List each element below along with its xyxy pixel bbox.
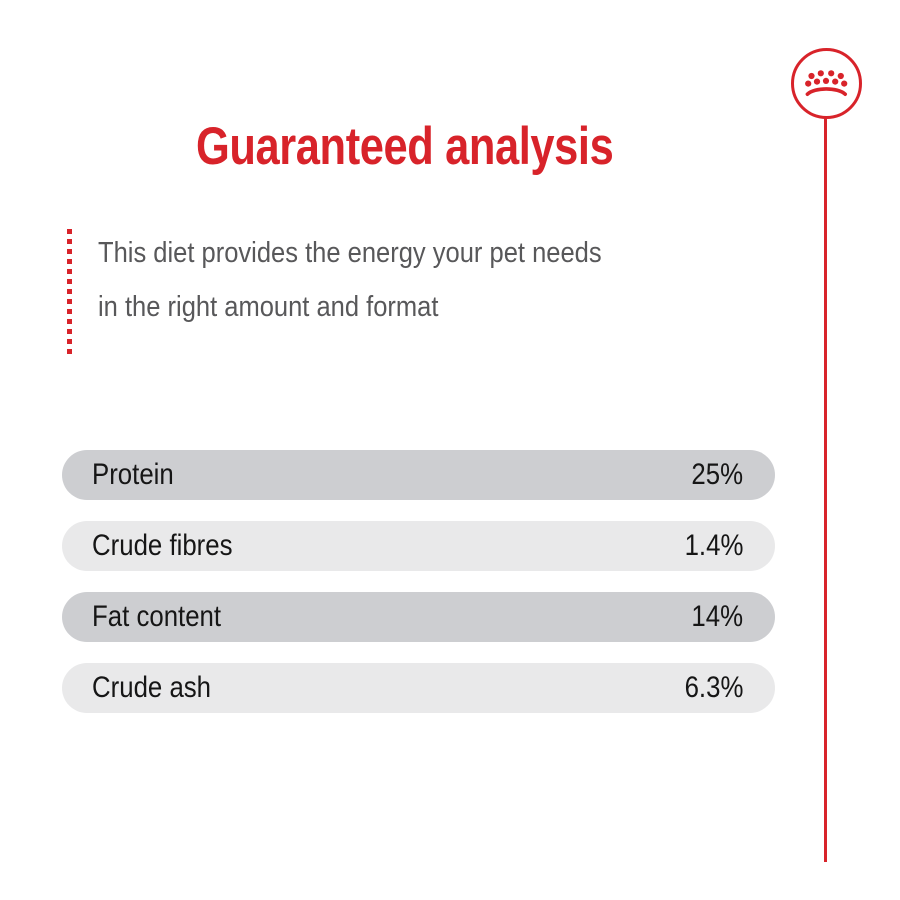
table-row: Crude fibres 1.4% [62, 521, 775, 571]
dotted-vertical-rule-icon [67, 229, 72, 357]
guaranteed-analysis-panel: Guaranteed analysis This diet provides t… [0, 0, 900, 900]
intro-text: This diet provides the energy your pet n… [98, 226, 696, 334]
guaranteed-analysis-table: Protein 25% Crude fibres 1.4% Fat conten… [62, 450, 775, 713]
nutrient-label: Crude ash [92, 673, 211, 703]
royal-canin-crown-icon [804, 69, 849, 99]
nutrient-label: Crude fibres [92, 531, 233, 561]
table-row: Protein 25% [62, 450, 775, 500]
table-row: Fat content 14% [62, 592, 775, 642]
nutrient-value: 25% [691, 460, 743, 490]
page-title: Guaranteed analysis [196, 119, 613, 175]
table-row: Crude ash 6.3% [62, 663, 775, 713]
vertical-rule-icon [824, 118, 827, 862]
nutrient-label: Fat content [92, 602, 221, 632]
nutrient-label: Protein [92, 460, 174, 490]
royal-canin-logo [791, 48, 862, 119]
nutrient-value: 6.3% [684, 673, 743, 703]
nutrient-value: 1.4% [684, 531, 743, 561]
nutrient-value: 14% [691, 602, 743, 632]
